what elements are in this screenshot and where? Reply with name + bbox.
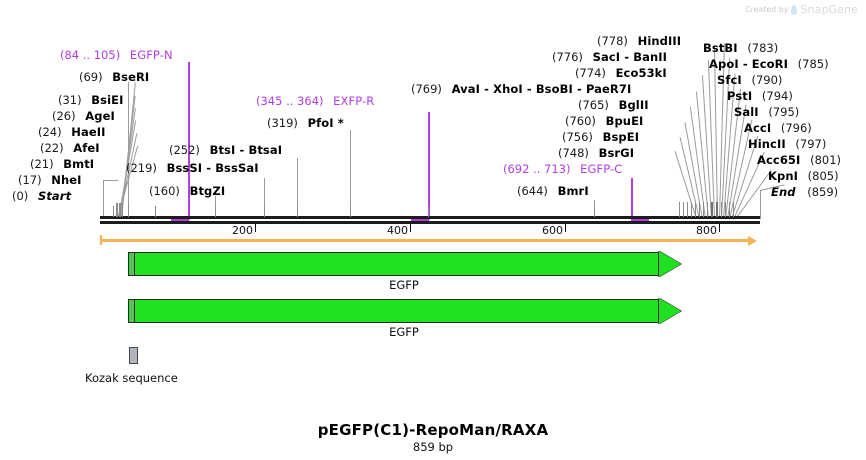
- site-tick: [428, 206, 429, 217]
- site-name: AgeI: [85, 109, 115, 123]
- site-position: (0): [12, 189, 28, 203]
- site-label-start[interactable]: (0) Start: [12, 190, 71, 202]
- site-tick: [119, 203, 121, 217]
- site-label-hindiii[interactable]: (778) HindIII: [597, 35, 681, 47]
- site-name: AccI: [744, 121, 771, 135]
- site-label-btgzi[interactable]: (160) BtgZI: [149, 185, 225, 197]
- site-name: SalI: [734, 105, 759, 119]
- ruler-label-200: 200: [232, 224, 253, 237]
- ruler-label-800: 800: [696, 224, 717, 237]
- site-label-pfoi[interactable]: (319) PfoI *: [267, 117, 344, 129]
- site-position: (17): [18, 173, 42, 187]
- site-position: (783): [747, 41, 778, 55]
- site-tick: [725, 202, 726, 217]
- site-position: (769): [411, 82, 442, 96]
- site-label-end[interactable]: End (859): [771, 186, 838, 198]
- primer-range: (692 .. 713): [503, 162, 571, 176]
- site-label-bmri[interactable]: (644) BmrI: [517, 185, 589, 197]
- site-label-kpni[interactable]: KpnI (805): [768, 170, 839, 182]
- primer-label-egfp-c[interactable]: (692 .. 713) EGFP-C: [503, 163, 622, 175]
- primer-label-egfp-n[interactable]: (84 .. 105) EGFP-N: [60, 49, 173, 61]
- site-name: BmrI: [558, 184, 589, 198]
- site-label-bstbi[interactable]: BstBI (783): [703, 42, 778, 54]
- site-label-avai[interactable]: (769) AvaI - XhoI - BsoBI - PaeR7I: [411, 83, 631, 95]
- primer-marker-line-exfp-r: [428, 112, 430, 220]
- site-name: BseRI: [112, 70, 149, 84]
- leader-kpni: [735, 170, 772, 219]
- feature-label-egfp-2: EGFP: [128, 325, 680, 339]
- site-label-bsssi[interactable]: (219) BssSI - BssSaI: [126, 162, 259, 174]
- site-position: (776): [552, 50, 583, 64]
- site-name: End: [771, 185, 796, 199]
- site-name: BmtI: [63, 157, 94, 171]
- site-position: (21): [30, 157, 54, 171]
- site-label-bspei[interactable]: (756) BspEI: [562, 131, 639, 143]
- site-label-acc65i[interactable]: Acc65I (801): [757, 154, 841, 166]
- sequence-backbone-top: [100, 216, 760, 219]
- leader-start-diag: [103, 180, 118, 181]
- leader-start: [103, 180, 104, 219]
- site-tick: [116, 203, 118, 217]
- site-position: (26): [52, 109, 76, 123]
- primer-marker-line-egfp-c: [631, 178, 633, 220]
- site-name: BtsI - BtsaI: [210, 143, 283, 157]
- site-name: NheI: [51, 173, 81, 187]
- site-name: BspEI: [603, 130, 639, 144]
- ruler-tick-800: [719, 224, 720, 232]
- ruler-label-400: 400: [387, 224, 408, 237]
- site-label-bsiei[interactable]: (31) BsiEI: [58, 94, 123, 106]
- site-name: AvaI - XhoI - BsoBI - PaeR7I: [452, 82, 632, 96]
- feature-arrowhead: [659, 251, 681, 277]
- orf-arrow-tail: [100, 235, 102, 245]
- site-position: (756): [562, 130, 593, 144]
- site-tick: [297, 206, 298, 217]
- site-position: (319): [267, 116, 298, 130]
- site-label-bglii[interactable]: (765) BglII: [578, 99, 649, 111]
- feature-body: [128, 252, 660, 276]
- site-name: HaeII: [71, 125, 105, 139]
- site-position: (795): [768, 105, 799, 119]
- site-position: (801): [810, 153, 841, 167]
- site-position: (760): [565, 114, 596, 128]
- watermark-brand: SnapGene: [800, 3, 858, 16]
- site-name: PstI: [727, 89, 752, 103]
- primer-name: EGFP-N: [130, 48, 173, 62]
- site-name: KpnI: [768, 169, 798, 183]
- site-tick: [594, 206, 595, 217]
- site-name: BglII: [619, 98, 649, 112]
- site-position: (252): [169, 143, 200, 157]
- site-name: BstBI: [703, 41, 738, 55]
- site-name: BtgZI: [190, 184, 226, 198]
- site-name: BsrGI: [599, 146, 635, 160]
- primer-range: (345 .. 364): [256, 94, 324, 108]
- site-position: (790): [751, 73, 782, 87]
- primer-label-exfp-r[interactable]: (345 .. 364) EXFP-R: [256, 95, 374, 107]
- site-label-saci[interactable]: (776) SacI - BanII: [552, 51, 667, 63]
- page-subtitle: 859 bp: [0, 440, 866, 454]
- site-label-nhei[interactable]: (17) NheI: [18, 174, 82, 186]
- site-position: (69): [79, 70, 103, 84]
- feature-start-hatch: [128, 299, 135, 323]
- site-label-acci[interactable]: AccI (796): [744, 122, 812, 134]
- site-name: Acc65I: [757, 153, 800, 167]
- site-name: BsiEI: [91, 93, 123, 107]
- site-label-bsrgi[interactable]: (748) BsrGI: [558, 147, 634, 159]
- site-label-haeii[interactable]: (24) HaeII: [38, 126, 106, 138]
- site-tick: [350, 206, 351, 217]
- feature-arrowhead: [659, 298, 681, 324]
- site-name: PfoI *: [308, 116, 344, 130]
- orf-arrow-line: [100, 239, 748, 242]
- snapgene-drop-icon: [791, 5, 797, 15]
- site-position: (24): [38, 125, 62, 139]
- site-position: (644): [517, 184, 548, 198]
- site-tick: [679, 202, 680, 217]
- site-position: (796): [781, 121, 812, 135]
- orf-arrow-head: [748, 236, 757, 246]
- primer-range: (84 .. 105): [60, 48, 120, 62]
- ruler-tick-600: [565, 224, 566, 232]
- site-name: AfeI: [73, 141, 99, 155]
- site-name: BssSI - BssSaI: [167, 161, 259, 175]
- feature-start-hatch: [128, 252, 135, 276]
- plasmid-map-canvas: Created by SnapGene: [0, 0, 866, 460]
- watermark-prefix: Created by: [745, 5, 788, 14]
- site-tick: [128, 203, 129, 217]
- ruler-label-600: 600: [542, 224, 563, 237]
- feature-egfp-2[interactable]: [128, 299, 680, 323]
- site-position: (805): [808, 169, 839, 183]
- site-tick: [699, 202, 700, 217]
- site-tick: [721, 202, 722, 217]
- site-tick: [122, 203, 123, 217]
- site-position: (765): [578, 98, 609, 112]
- site-tick: [264, 206, 265, 217]
- ruler-tick-400: [410, 224, 411, 232]
- site-label-apoi-ecori[interactable]: ApoI - EcoRI (785): [709, 58, 829, 70]
- site-tick: [695, 202, 696, 217]
- page-title: pEGFP(C1)-RepoMan/RAXA: [0, 421, 866, 439]
- site-tick: [113, 206, 114, 217]
- site-position: (160): [149, 184, 180, 198]
- site-label-sfci[interactable]: SfcI (790): [717, 74, 782, 86]
- site-name: BpuEI: [606, 114, 644, 128]
- site-tick: [711, 202, 713, 217]
- kozak-sequence-marker[interactable]: [129, 347, 138, 364]
- leader-hindiii: [714, 45, 718, 219]
- site-name: SacI - BanII: [593, 50, 667, 64]
- site-tick: [691, 202, 692, 217]
- feature-egfp-1[interactable]: [128, 252, 680, 276]
- site-tick: [707, 202, 708, 217]
- site-label-btsi[interactable]: (252) BtsI - BtsaI: [169, 144, 282, 156]
- site-position: (774): [575, 66, 606, 80]
- site-label-psti[interactable]: PstI (794): [727, 90, 793, 102]
- site-name: SfcI: [717, 73, 742, 87]
- site-position: (219): [126, 161, 157, 175]
- snapgene-watermark: Created by SnapGene: [745, 3, 858, 16]
- kozak-sequence-label: Kozak sequence: [85, 371, 178, 385]
- site-label-agei[interactable]: (26) AgeI: [52, 110, 115, 122]
- site-position: (778): [597, 34, 628, 48]
- feature-body: [128, 299, 660, 323]
- feature-label-egfp-1: EGFP: [128, 278, 680, 292]
- site-position: (31): [58, 93, 82, 107]
- site-name: Start: [38, 189, 71, 203]
- site-label-hincii[interactable]: HincII (797): [748, 138, 826, 150]
- site-tick: [733, 202, 734, 217]
- site-position: (22): [40, 141, 64, 155]
- site-tick: [703, 202, 704, 217]
- site-position: (785): [798, 57, 829, 71]
- site-label-bmti[interactable]: (21) BmtI: [30, 158, 94, 170]
- sequence-backbone-bottom: [100, 221, 760, 224]
- site-label-afei[interactable]: (22) AfeI: [40, 142, 100, 154]
- site-position: (859): [807, 185, 838, 199]
- site-tick: [215, 206, 216, 217]
- site-name: HindIII: [638, 34, 682, 48]
- site-tick: [687, 202, 688, 217]
- site-position: (797): [795, 137, 826, 151]
- site-position: (794): [762, 89, 793, 103]
- site-name: ApoI - EcoRI: [709, 57, 788, 71]
- site-tick: [683, 202, 684, 217]
- site-name: HincII: [748, 137, 786, 151]
- site-label-eco53ki[interactable]: (774) Eco53kI: [575, 67, 667, 79]
- site-tick: [716, 202, 718, 217]
- ruler-tick-200: [255, 224, 256, 232]
- site-name: Eco53kI: [616, 66, 667, 80]
- primer-name: EGFP-C: [580, 162, 622, 176]
- site-label-sali[interactable]: SalI (795): [734, 106, 799, 118]
- site-position: (748): [558, 146, 589, 160]
- site-label-bseri[interactable]: (69) BseRI: [79, 71, 149, 83]
- site-label-bpuei[interactable]: (760) BpuEI: [565, 115, 643, 127]
- leader-end: [760, 190, 761, 219]
- primer-name: EXFP-R: [333, 94, 374, 108]
- site-tick: [729, 202, 730, 217]
- site-tick: [155, 206, 156, 217]
